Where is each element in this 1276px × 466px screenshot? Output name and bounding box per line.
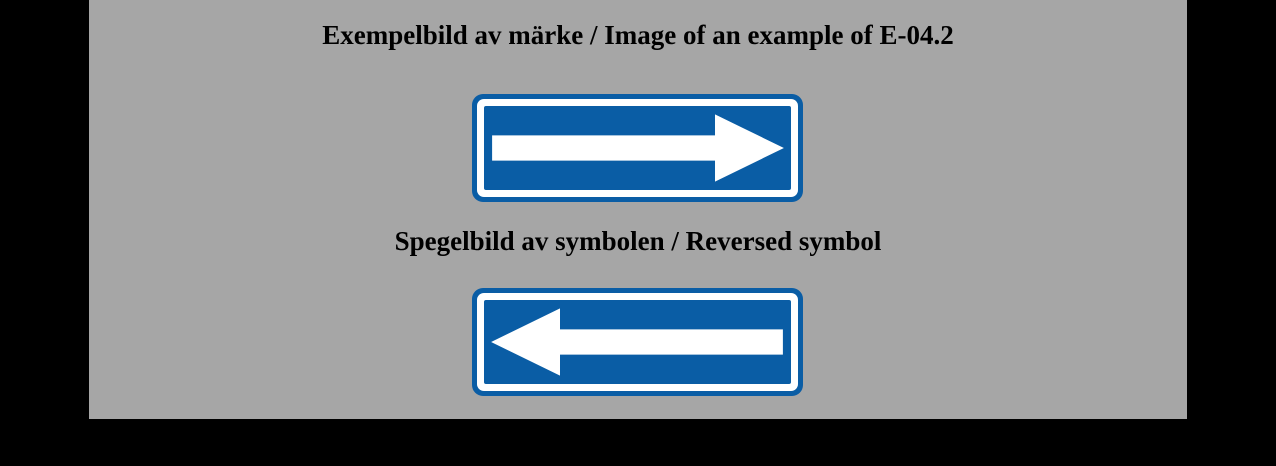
sign-blue-field <box>484 106 791 190</box>
arrow-right-icon <box>484 106 791 190</box>
example-road-sign <box>472 94 803 202</box>
sign-blue-field <box>484 300 791 384</box>
arrow-left-icon <box>484 300 791 384</box>
sign-white-ring <box>477 293 798 391</box>
secondary-caption: Spegelbild av symbolen / Reversed symbol <box>89 226 1187 256</box>
reversed-road-sign <box>472 288 803 396</box>
page-root: Exempelbild av märke / Image of an examp… <box>0 0 1276 466</box>
primary-caption: Exempelbild av märke / Image of an examp… <box>89 20 1187 50</box>
content-panel: Exempelbild av märke / Image of an examp… <box>89 0 1187 419</box>
sign-white-ring <box>477 99 798 197</box>
